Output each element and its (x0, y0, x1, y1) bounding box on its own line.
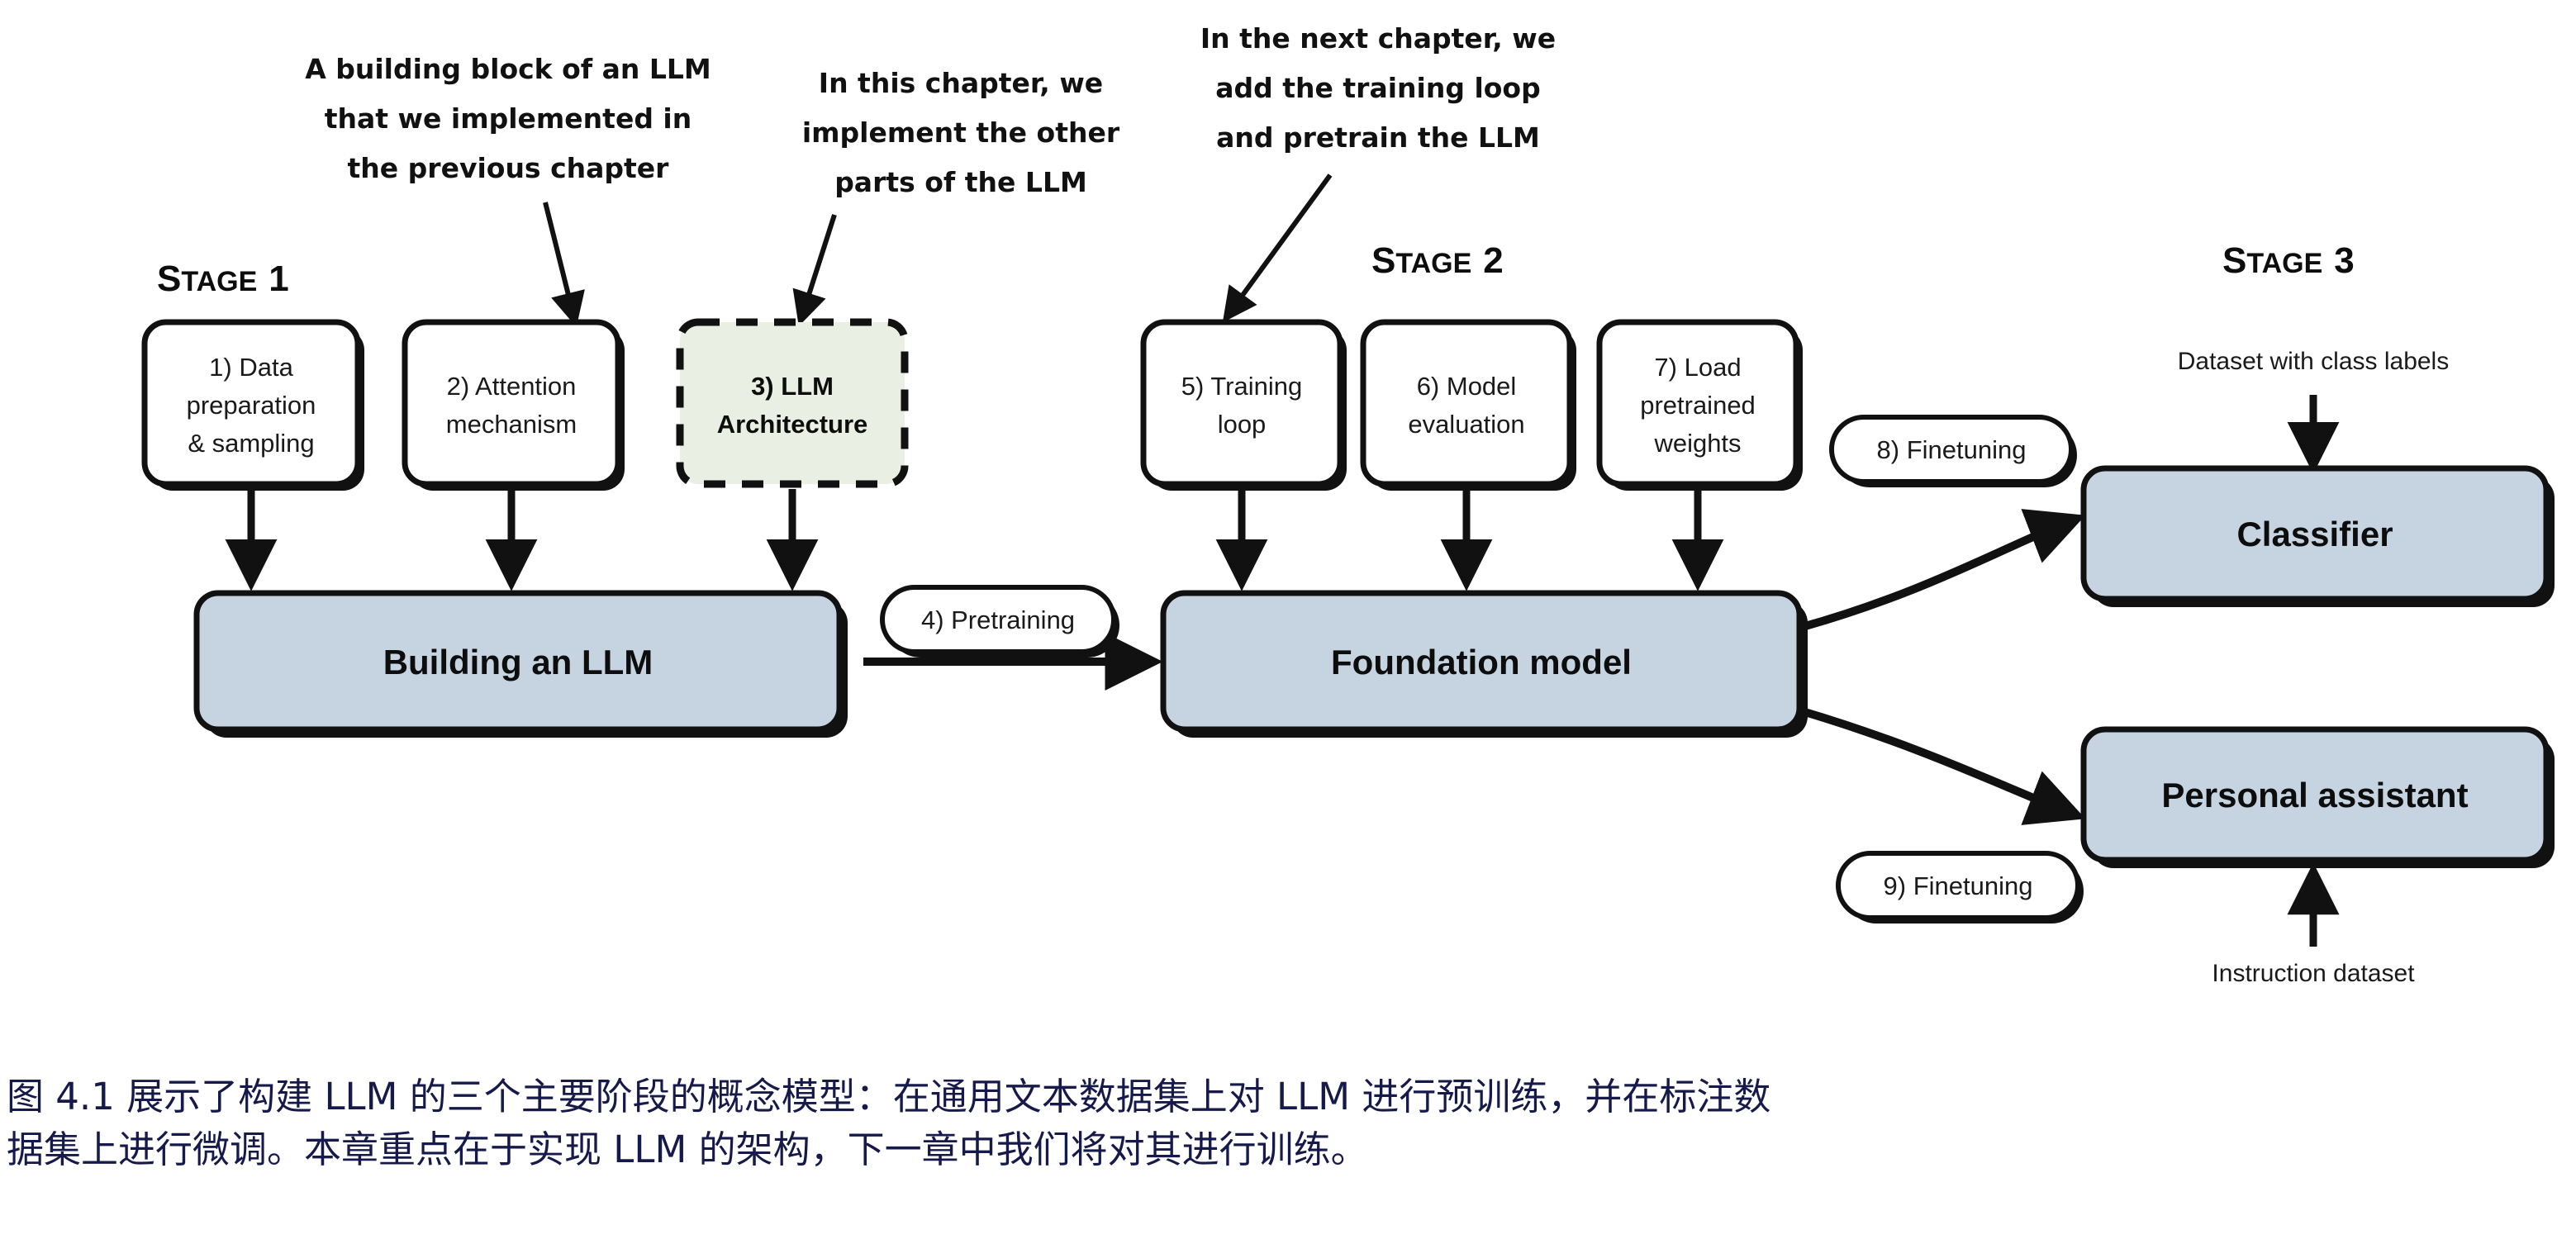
step-box-line: pretrained (1640, 391, 1756, 420)
stage-heading-rest: TAGE (2246, 248, 2322, 279)
side-label-text: Dataset with class labels (2178, 348, 2449, 375)
annotation-line: add the training loop (1215, 72, 1540, 104)
annotation-line: implement the other (802, 116, 1120, 149)
caption-line-1: 图 4.1 展示了构建 LLM 的三个主要阶段的概念模型：在通用文本数据集上对 … (7, 1071, 2568, 1123)
step-3-llm-architecture[interactable]: 3) LLM Architecture (680, 322, 905, 484)
annotation-line: the previous chapter (348, 152, 670, 184)
annotation-line: In this chapter, we (819, 67, 1103, 99)
stage-heading-number: 3 (2334, 240, 2354, 281)
svg-text:STAGE1: STAGE1 (157, 259, 289, 299)
annotation-line: and pretrain the LLM (1216, 121, 1540, 154)
pill-4-pretraining[interactable]: 4) Pretraining (882, 587, 1119, 658)
stage-heading-lead: S (157, 259, 181, 299)
side-label-text: Instruction dataset (2212, 960, 2415, 987)
main-box-building-an-llm[interactable]: Building an LLM (197, 593, 848, 738)
main-box-label: Foundation model (1331, 643, 1632, 681)
step-box-line: & sampling (188, 429, 314, 458)
step-box-line: loop (1218, 410, 1267, 439)
pill-label: 8) Finetuning (1877, 435, 2027, 464)
step-box-line: 1) Data (209, 353, 293, 382)
main-box-label: Building an LLM (383, 643, 654, 681)
step-box-line: preparation (187, 391, 316, 420)
annotation-arrow-3 (1228, 175, 1330, 316)
step-2-attention-mechanism[interactable]: 2) Attention mechanism (405, 322, 625, 491)
stage-heading-rest: TAGE (181, 266, 257, 297)
annotation-previous-chapter: A building block of an LLM that we imple… (305, 53, 711, 319)
step-box-line: mechanism (446, 410, 577, 439)
caption-line-2: 据集上进行微调。本章重点在于实现 LLM 的架构，下一章中我们将对其进行训练。 (7, 1123, 2568, 1176)
svg-text:STAGE3: STAGE3 (2222, 240, 2355, 281)
annotation-arrow-1 (541, 202, 578, 319)
stage-2-heading: STAGE2 (1371, 240, 1504, 281)
step-box-line: 6) Model (1417, 372, 1517, 401)
annotation-this-chapter: In this chapter, we implement the other … (801, 67, 1120, 318)
label-instruction-dataset: Instruction dataset (2212, 876, 2415, 987)
stage-heading-number: 2 (1483, 240, 1503, 281)
pill-8-finetuning[interactable]: 8) Finetuning (1832, 417, 2077, 487)
stage-heading-lead: S (1371, 240, 1395, 281)
step-7-load-pretrained-weights[interactable]: 7) Load pretrained weights (1599, 322, 1803, 491)
step-5-training-loop[interactable]: 5) Training loop (1143, 322, 1347, 491)
step-box-line: 2) Attention (447, 372, 577, 401)
main-box-personal-assistant[interactable]: Personal assistant (2084, 729, 2555, 868)
annotation-line: A building block of an LLM (305, 53, 711, 85)
main-box-foundation-model[interactable]: Foundation model (1163, 593, 1808, 738)
step-box-line: 5) Training (1181, 372, 1302, 401)
llm-stages-diagram: A building block of an LLM that we imple… (0, 0, 2576, 1041)
figure-caption: 图 4.1 展示了构建 LLM 的三个主要阶段的概念模型：在通用文本数据集上对 … (7, 1071, 2568, 1176)
step-box-line: evaluation (1408, 410, 1524, 439)
step-6-model-evaluation[interactable]: 6) Model evaluation (1363, 322, 1576, 491)
svg-text:STAGE2: STAGE2 (1371, 240, 1504, 281)
stage-heading-lead: S (2222, 240, 2246, 281)
main-box-classifier[interactable]: Classifier (2084, 468, 2555, 607)
annotation-line: parts of the LLM (834, 166, 1087, 198)
figure-root: A building block of an LLM that we imple… (0, 0, 2576, 1244)
annotation-arrow-2 (801, 215, 834, 318)
step-box-line: 7) Load (1654, 353, 1741, 382)
arrow-finetune-to-assistant (1799, 710, 2072, 814)
main-box-label: Personal assistant (2161, 776, 2468, 814)
step-box-line: weights (1653, 429, 1741, 458)
annotation-line: that we implemented in (325, 102, 692, 135)
label-dataset-with-class-labels: Dataset with class labels (2178, 348, 2449, 461)
step-box-line: 3) LLM (751, 372, 834, 401)
step-box-line: Architecture (717, 410, 868, 439)
stage-heading-number: 1 (269, 259, 288, 299)
stage-3-heading: STAGE3 (2222, 240, 2355, 281)
stage-heading-rest: TAGE (1395, 248, 1471, 279)
arrow-finetune-to-classifier (1799, 520, 2072, 628)
step-1-data-preparation[interactable]: 1) Data preparation & sampling (145, 322, 364, 491)
pill-label: 4) Pretraining (921, 605, 1075, 634)
pill-label: 9) Finetuning (1884, 871, 2033, 900)
pill-9-finetuning[interactable]: 9) Finetuning (1838, 853, 2084, 924)
annotation-line: In the next chapter, we (1200, 22, 1556, 55)
stage-1-heading: STAGE1 (157, 259, 289, 299)
main-box-label: Classifier (2236, 515, 2393, 553)
